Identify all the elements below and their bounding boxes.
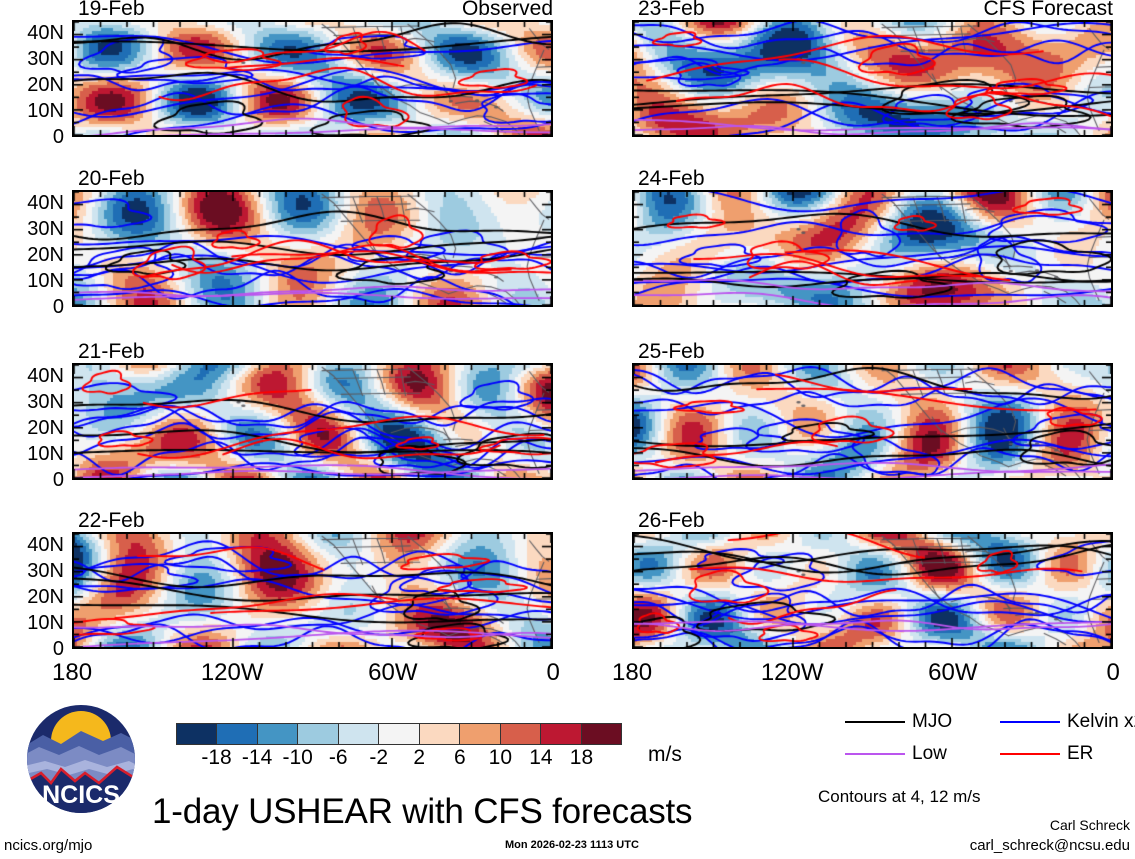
- y-axis-tick-label: 20N: [2, 75, 64, 95]
- footer-site-link[interactable]: ncics.org/mjo: [4, 838, 92, 853]
- map-shading-canvas: [634, 192, 1111, 305]
- x-axis-tick-label: 180: [52, 661, 92, 685]
- map-shading-canvas: [74, 22, 551, 135]
- panel-date-label: 24-Feb: [638, 168, 705, 189]
- legend-line-swatch: [845, 721, 905, 723]
- colorbar-tick-label: -14: [242, 747, 272, 768]
- y-axis-tick-label: 20N: [2, 245, 64, 265]
- panel-date-label: 20-Feb: [78, 168, 145, 189]
- y-axis-tick-label: 30N: [2, 219, 64, 239]
- colorbar-segment: [177, 724, 216, 744]
- x-axis-tick-label: 120W: [201, 661, 264, 685]
- footer-email[interactable]: carl_schreck@ncsu.edu: [970, 838, 1130, 853]
- contour-interval-note: Contours at 4, 12 m/s: [818, 788, 981, 805]
- map-panel: [632, 20, 1113, 137]
- y-axis-tick-label: 10N: [2, 613, 64, 633]
- x-axis-tick-label: 180: [612, 661, 652, 685]
- legend-item: ER: [1000, 744, 1093, 763]
- colorbar-segment: [540, 724, 580, 744]
- map-shading-canvas: [74, 534, 551, 647]
- y-axis-tick-label: 30N: [2, 561, 64, 581]
- colorbar-tick-label: 10: [489, 747, 512, 768]
- x-axis-tick-label: 60W: [928, 661, 977, 685]
- x-axis-tick-label: 120W: [761, 661, 824, 685]
- y-axis-tick-label: 40N: [2, 193, 64, 213]
- panel-date-label: 25-Feb: [638, 341, 705, 362]
- map-shading-canvas: [634, 365, 1111, 478]
- legend-item: Low: [845, 744, 947, 763]
- contour-legend: MJOKelvin x2LowER: [845, 712, 1135, 774]
- legend-item: MJO: [845, 712, 952, 731]
- ncics-logo-text: NCICS: [42, 781, 120, 809]
- colorbar-segment: [500, 724, 540, 744]
- footer-timestamp: Mon 2026-02-23 1113 UTC: [505, 840, 639, 851]
- map-shading-canvas: [74, 192, 551, 305]
- colorbar-segment: [378, 724, 418, 744]
- colorbar-segment: [257, 724, 297, 744]
- map-panel: [72, 190, 553, 307]
- legend-label: ER: [1067, 744, 1093, 763]
- y-axis-tick-label: 0: [2, 297, 64, 317]
- legend-item: Kelvin x2: [1000, 712, 1135, 731]
- colorbar-segment: [419, 724, 459, 744]
- colorbar-tick-label: 14: [529, 747, 552, 768]
- map-panel: [632, 363, 1113, 480]
- map-panel: [72, 20, 553, 137]
- x-axis-tick-label: 0: [547, 661, 560, 685]
- map-shading-canvas: [74, 365, 551, 478]
- y-axis-tick-label: 10N: [2, 271, 64, 291]
- x-axis-tick-label: 0: [1107, 661, 1120, 685]
- y-axis-tick-label: 30N: [2, 49, 64, 69]
- footer-author: Carl Schreck: [1050, 818, 1130, 832]
- panel-date-label: 22-Feb: [78, 510, 145, 531]
- colorbar-units-label: m/s: [648, 744, 682, 765]
- column-heading: Observed: [72, 0, 553, 19]
- colorbar-segment: [216, 724, 256, 744]
- map-shading-canvas: [634, 22, 1111, 135]
- map-panel: [72, 363, 553, 480]
- colorbar-tick-label: -18: [201, 747, 231, 768]
- y-axis-tick-label: 40N: [2, 535, 64, 555]
- legend-line-swatch: [845, 753, 905, 755]
- ncics-logo: NCICS: [25, 703, 137, 815]
- panel-date-label: 26-Feb: [638, 510, 705, 531]
- colorbar-tick-labels: -18-14-10-6-226101418: [176, 747, 622, 771]
- colorbar-segment: [459, 724, 499, 744]
- panel-date-label: 21-Feb: [78, 341, 145, 362]
- colorbar-tick-label: 2: [413, 747, 425, 768]
- legend-line-swatch: [1000, 721, 1060, 723]
- map-shading-canvas: [634, 534, 1111, 647]
- colorbar: [176, 723, 622, 745]
- y-axis-tick-label: 40N: [2, 23, 64, 43]
- colorbar-tick-label: -2: [369, 747, 388, 768]
- colorbar-tick-label: 18: [570, 747, 593, 768]
- colorbar-segment: [581, 724, 621, 744]
- map-panel: [632, 190, 1113, 307]
- colorbar-segment: [338, 724, 378, 744]
- x-axis-tick-label: 60W: [368, 661, 417, 685]
- map-panel: [72, 532, 553, 649]
- y-axis-tick-label: 0: [2, 639, 64, 659]
- legend-label: Kelvin x2: [1067, 712, 1135, 731]
- y-axis-tick-label: 20N: [2, 418, 64, 438]
- y-axis-tick-label: 0: [2, 127, 64, 147]
- map-panel: [632, 532, 1113, 649]
- colorbar-segment: [297, 724, 337, 744]
- column-heading: CFS Forecast: [632, 0, 1113, 19]
- y-axis-tick-label: 20N: [2, 587, 64, 607]
- colorbar-tick-label: 6: [454, 747, 466, 768]
- legend-label: Low: [912, 744, 947, 763]
- page-title: 1-day USHEAR with CFS forecasts: [152, 794, 692, 829]
- y-axis-tick-label: 40N: [2, 366, 64, 386]
- y-axis-tick-label: 10N: [2, 444, 64, 464]
- ncics-logo-icon: NCICS: [25, 703, 137, 815]
- legend-label: MJO: [912, 712, 952, 731]
- y-axis-tick-label: 10N: [2, 101, 64, 121]
- colorbar-tick-label: -10: [282, 747, 312, 768]
- y-axis-tick-label: 30N: [2, 392, 64, 412]
- legend-line-swatch: [1000, 753, 1060, 755]
- y-axis-tick-label: 0: [2, 470, 64, 490]
- colorbar-tick-label: -6: [329, 747, 348, 768]
